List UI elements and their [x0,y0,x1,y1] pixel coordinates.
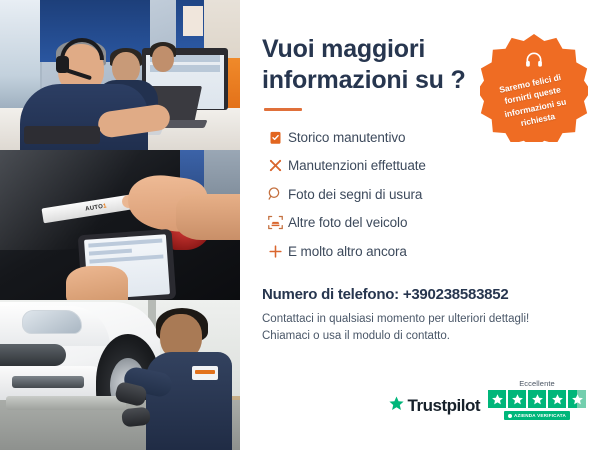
verified-business-badge: AZIENDA VERIFICATA [504,411,570,420]
page-title-line-1: Vuoi maggiori [262,35,425,63]
clipboard-check-icon [262,130,288,145]
tablet-screen-line [89,249,132,256]
feature-item-altre-foto-veicolo: Altre foto del veicolo [262,209,578,238]
magnifier-icon [262,186,288,202]
contact-instructions: Contattaci in qualsiasi momento per ulte… [262,311,578,347]
car-bumper-vent [12,376,84,388]
car-headlight [22,310,82,334]
photo-call-centre-agents-with-headsets [0,0,240,150]
feature-item-label: Manutenzioni effettuate [288,158,426,173]
feature-item-label: Foto dei segni di usura [288,187,422,202]
feature-item-label: Altre foto del veicolo [288,215,407,230]
tablet-screen-line [89,254,163,263]
feature-item-foto-segni-usura: Foto dei segni di usura [262,180,578,209]
page-title: Vuoi maggiori informazioni su ? [262,34,472,95]
trustpilot-star-filled [528,390,546,408]
trustpilot-star-half [568,390,586,408]
photo-mechanic-checking-wheel-on-lift [0,300,240,450]
trustpilot-star-icon [388,395,405,417]
verified-check-icon [508,414,512,418]
trustpilot-score-block: Eccellente [488,379,586,420]
trustpilot-star-row [488,390,586,408]
vehicle-lift-arm [6,396,126,410]
feature-item-label: Storico manutentivo [288,130,405,145]
contact-instructions-line-1: Contattaci in qualsiasi momento per ulte… [262,313,529,325]
photo-column: AUTO1 [0,0,240,450]
trustpilot-logo: Trustpilot [388,395,480,420]
trustpilot-star-filled [488,390,506,408]
on-request-badge: Saremo felici di fornirti queste informa… [480,34,588,142]
photo-technician-inspecting-car-panel-with-tablet: AUTO1 [0,150,240,300]
feature-list: Storico manutentivo Manutenzioni effettu… [262,123,578,266]
car-grille [0,344,66,366]
trustpilot-star-filled [548,390,566,408]
feature-item-label: E molto altro ancora [288,244,407,259]
desk-tablet [24,126,100,144]
strip-logo-accent: 1 [103,203,108,209]
phone-number-label[interactable]: Numero di telefono: +390238583852 [262,286,578,303]
verified-business-label: AZIENDA VERIFICATA [514,413,566,418]
technician-forearm [176,194,240,240]
technician-lower-hand [66,266,128,300]
headset-icon [524,50,544,75]
mechanic-uniform [146,352,232,450]
title-underline-rule [264,108,302,111]
agent-3-head [152,46,174,72]
promo-card: AUTO1 [0,0,600,450]
info-panel: Vuoi maggiori informazioni su ? Saremo f… [240,0,600,450]
trustpilot-rating-label: Eccellente [519,379,555,388]
page-title-line-2: informazioni su ? [262,66,466,94]
mechanic-uniform-logo [192,366,218,380]
tablet-screen-line [88,238,162,247]
contact-instructions-line-2: Chiamaci o usa il modulo di contatto. [262,330,450,342]
wall-poster [183,6,203,36]
trustpilot-wordmark: Trustpilot [408,396,480,416]
plus-icon [262,243,288,260]
on-request-badge-text: Saremo felici di fornirti queste informa… [487,68,581,134]
car-scan-icon [262,214,288,231]
feature-item-manutenzioni-effettuate: Manutenzioni effettuate [262,152,578,181]
trustpilot-star-filled [508,390,526,408]
wrench-cross-icon [262,157,288,174]
trustpilot-rating[interactable]: Trustpilot Eccellente [388,379,586,420]
feature-item-molto-altro-ancora: E molto altro ancora [262,237,578,266]
